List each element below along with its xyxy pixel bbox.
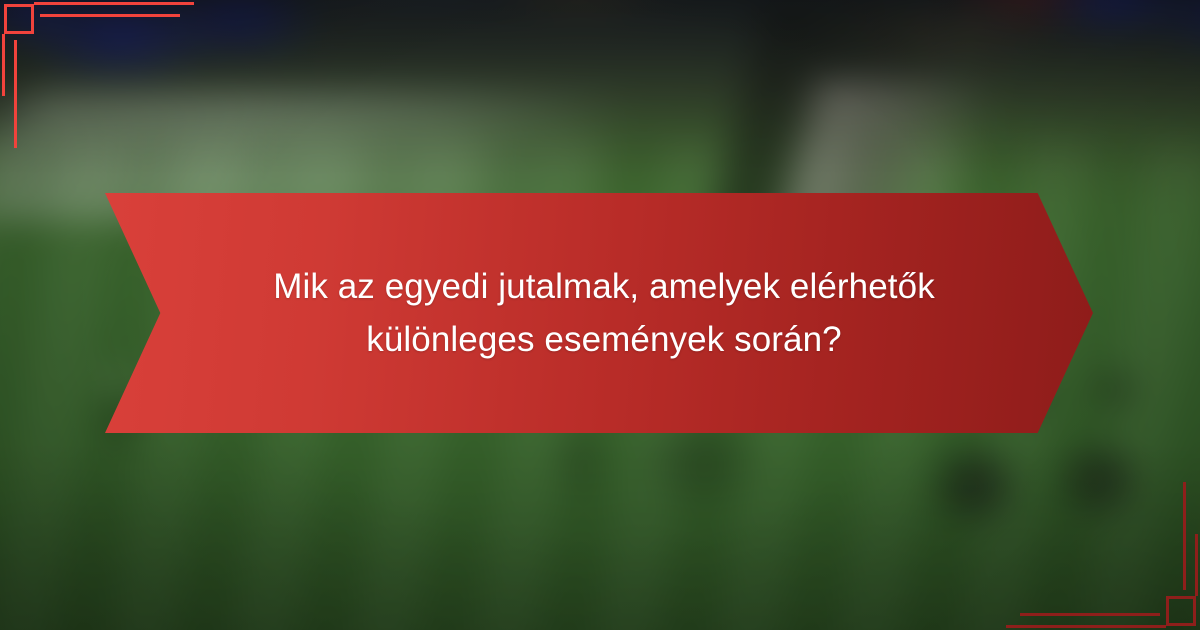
corner-decoration-top-left: [0, 0, 200, 110]
decoration-horizontal-bar-short: [1020, 613, 1160, 616]
decoration-square-outline-icon: [1166, 596, 1196, 626]
decoration-vertical-bar-short: [2, 34, 5, 96]
corner-decoration-bottom-right: [1000, 520, 1200, 630]
headline-line-2: különleges események során?: [229, 313, 979, 366]
banner-stage: Mik az egyedi jutalmak, amelyek elérhető…: [0, 0, 1200, 630]
headline-banner-content: Mik az egyedi jutalmak, amelyek elérhető…: [189, 260, 1009, 366]
decoration-horizontal-bar-long: [34, 2, 194, 5]
decoration-square-outline-icon: [4, 4, 34, 34]
decoration-vertical-bar-long: [14, 40, 17, 148]
decoration-horizontal-bar-long: [1006, 625, 1166, 628]
headline-line-1: Mik az egyedi jutalmak, amelyek elérhető…: [229, 260, 979, 313]
decoration-vertical-bar-long: [1183, 482, 1186, 590]
decoration-horizontal-bar-short: [40, 14, 180, 17]
headline-banner: Mik az egyedi jutalmak, amelyek elérhető…: [105, 193, 1093, 433]
decoration-vertical-bar-short: [1195, 534, 1198, 596]
